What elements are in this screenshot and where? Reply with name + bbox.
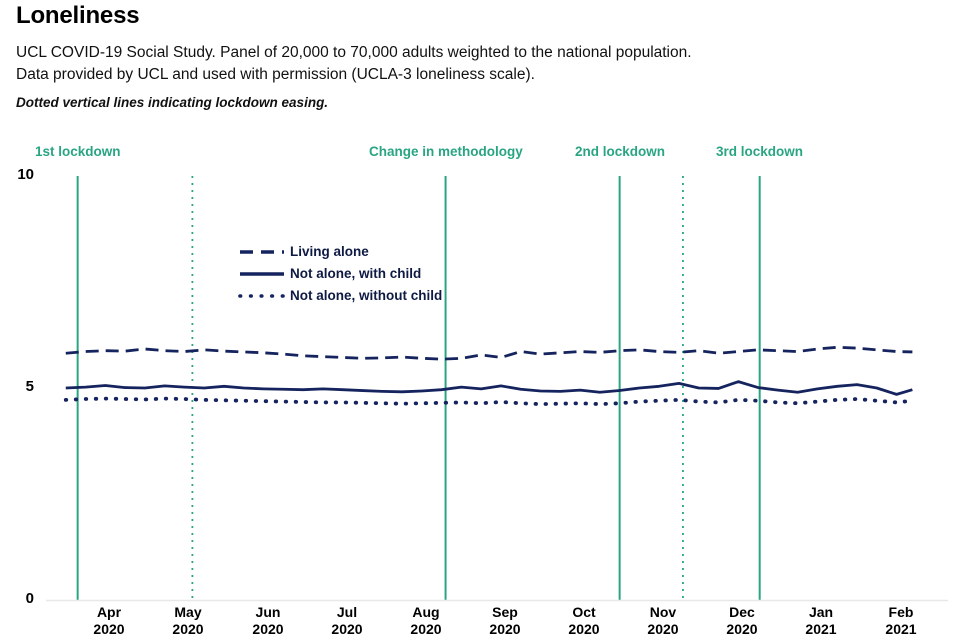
x-axis-tick-label: May2020 <box>153 604 223 638</box>
series-line <box>66 347 913 359</box>
y-axis-tick-label: 0 <box>4 590 34 607</box>
x-tick-year: 2020 <box>312 621 382 638</box>
x-tick-month: Apr <box>74 604 144 621</box>
event-label: Change in methodology <box>369 144 523 159</box>
x-tick-month: Dec <box>707 604 777 621</box>
x-tick-year: 2021 <box>945 621 960 638</box>
x-tick-month: Feb <box>866 604 936 621</box>
legend-label-not-alone-with-child: Not alone, with child <box>290 266 421 281</box>
x-tick-year: 2021 <box>786 621 856 638</box>
y-axis-tick-label: 5 <box>4 378 34 395</box>
x-tick-year: 2020 <box>74 621 144 638</box>
x-axis-tick-label: Feb2021 <box>866 604 936 638</box>
x-tick-month: Jun <box>233 604 303 621</box>
x-axis-tick-label: Mar2021 <box>945 604 960 638</box>
x-axis-tick-label: Oct2020 <box>549 604 619 638</box>
x-axis-tick-label: Apr2020 <box>74 604 144 638</box>
x-tick-year: 2020 <box>549 621 619 638</box>
x-axis-tick-label: Jan2021 <box>786 604 856 638</box>
series-line <box>66 382 913 395</box>
x-tick-year: 2020 <box>391 621 461 638</box>
x-axis-tick-label: Jun2020 <box>233 604 303 638</box>
event-label: 2nd lockdown <box>575 144 665 159</box>
x-tick-month: Sep <box>470 604 540 621</box>
legend-label-not-alone-without-child: Not alone, without child <box>290 288 442 303</box>
legend-key-solid <box>238 263 290 285</box>
data-series-group <box>66 347 913 404</box>
loneliness-chart: Loneliness UCL COVID-19 Social Study. Pa… <box>0 0 960 640</box>
x-tick-year: 2020 <box>470 621 540 638</box>
event-label: 3rd lockdown <box>716 144 803 159</box>
x-axis-tick-label: Aug2020 <box>391 604 461 638</box>
x-tick-month: Nov <box>628 604 698 621</box>
x-tick-year: 2021 <box>866 621 936 638</box>
legend-key-dotted <box>238 285 290 307</box>
x-axis-tick-label: Sep2020 <box>470 604 540 638</box>
legend-key-dashed <box>238 241 290 263</box>
legend-label-living-alone: Living alone <box>290 244 369 259</box>
x-tick-month: Jan <box>786 604 856 621</box>
x-axis-tick-label: Jul2020 <box>312 604 382 638</box>
x-tick-month: Jul <box>312 604 382 621</box>
event-label: 1st lockdown <box>35 144 121 159</box>
x-tick-month: May <box>153 604 223 621</box>
x-tick-year: 2020 <box>153 621 223 638</box>
x-axis-tick-label: Nov2020 <box>628 604 698 638</box>
x-tick-month: Oct <box>549 604 619 621</box>
x-tick-month: Aug <box>391 604 461 621</box>
plot-area <box>0 0 960 640</box>
x-tick-year: 2020 <box>233 621 303 638</box>
x-tick-year: 2020 <box>707 621 777 638</box>
x-tick-month: Mar <box>945 604 960 621</box>
x-tick-year: 2020 <box>628 621 698 638</box>
x-axis-tick-label: Dec2020 <box>707 604 777 638</box>
y-axis-tick-label: 10 <box>4 166 34 183</box>
